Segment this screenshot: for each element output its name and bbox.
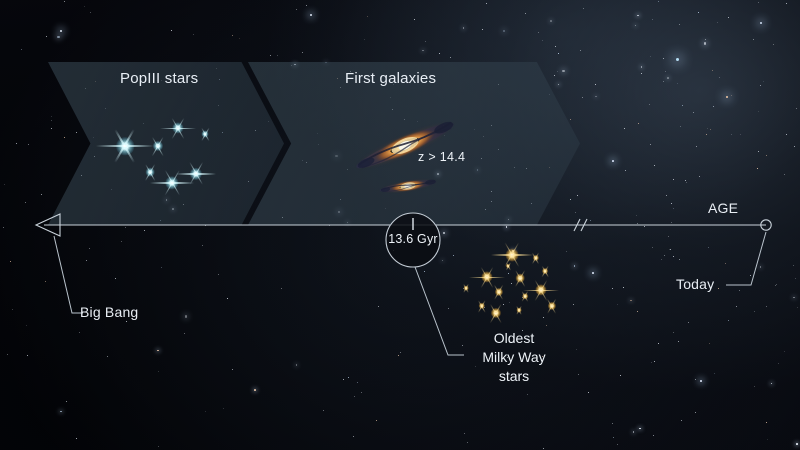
axis-label-age: AGE bbox=[708, 200, 738, 216]
label-big-bang: Big Bang bbox=[80, 304, 138, 320]
big-bang-leader-line bbox=[54, 236, 83, 313]
timeline-axis-layer bbox=[0, 0, 800, 450]
label-today: Today bbox=[676, 276, 714, 292]
label-oldest-milkyway-stars: Oldest Milky Way stars bbox=[444, 329, 584, 386]
oldest-stars-line-1: Oldest bbox=[444, 329, 584, 348]
age-marker-value: 13.6 Gyr bbox=[383, 232, 443, 246]
oldest-stars-line-3: stars bbox=[444, 367, 584, 386]
cosmic-timeline-figure: PopIII stars First galaxies z > 14.4 AGE… bbox=[0, 0, 800, 450]
today-leader-line bbox=[726, 232, 766, 285]
oldest-stars-line-2: Milky Way bbox=[444, 348, 584, 367]
